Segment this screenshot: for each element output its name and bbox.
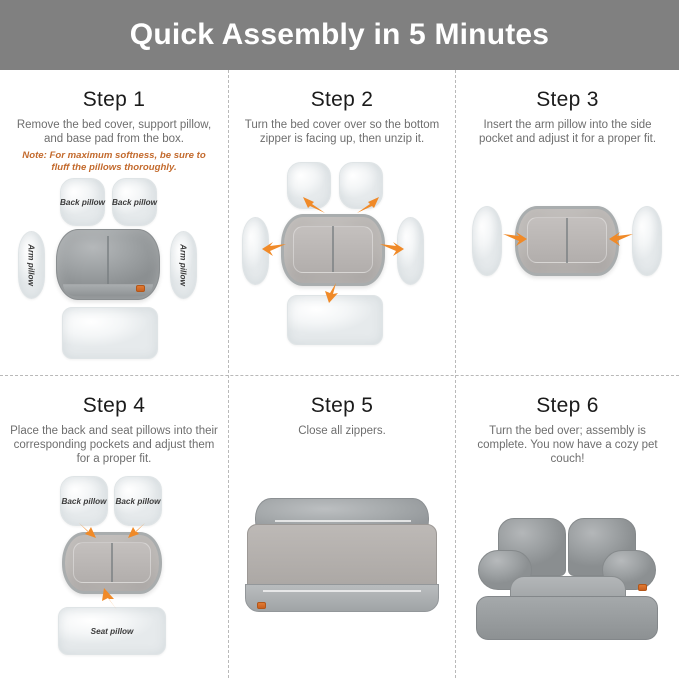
step-1-description: Remove the bed cover, support pillow, an… xyxy=(0,112,228,146)
brand-tag-icon xyxy=(638,584,647,591)
zipper-line-bottom xyxy=(263,590,421,592)
step-6-description: Turn the bed over; assembly is complete.… xyxy=(456,418,679,466)
step-6-title: Step 6 xyxy=(456,394,679,418)
zipper-line-top xyxy=(275,520,411,522)
arrow-down-right-icon xyxy=(126,522,148,542)
arm-pillow-left: Arm pillow xyxy=(18,231,45,299)
bed-cover-unzipped xyxy=(515,206,619,276)
step-2-illustration xyxy=(229,152,455,367)
brand-tag-icon xyxy=(257,602,266,609)
cover-center-seam xyxy=(107,236,109,286)
steps-grid: Step 1 Remove the bed cover, support pil… xyxy=(0,70,679,678)
arrow-right-insert-icon xyxy=(502,230,528,248)
step-panel-3: Step 3 Insert the arm pillow into the si… xyxy=(456,70,679,375)
step-3-illustration xyxy=(456,188,679,375)
step-3-title: Step 3 xyxy=(456,88,679,112)
back-pillow-left-label: Back pillow xyxy=(61,179,104,225)
assembly-instructions-page: Quick Assembly in 5 Minutes Step 1 Remov… xyxy=(0,0,679,678)
seat-pillow: Seat pillow xyxy=(58,607,166,655)
step-5-title: Step 5 xyxy=(229,394,455,418)
step-1-illustration: Back pillow Back pillow Arm pillow Arm p… xyxy=(0,173,228,363)
step-panel-4: Step 4 Place the back and seat pillows i… xyxy=(0,376,228,678)
cover-center-seam xyxy=(332,226,334,272)
step-5-description: Close all zippers. xyxy=(229,418,455,438)
step-1-title: Step 1 xyxy=(0,88,228,112)
back-pillow-right-label: Back pillow xyxy=(113,179,156,225)
base-pad xyxy=(62,307,158,359)
back-pillow-left: Back pillow xyxy=(60,178,105,226)
step-4-title: Step 4 xyxy=(0,394,228,418)
arm-pillow-right xyxy=(632,206,662,276)
back-pillow-right-label: Back pillow xyxy=(115,477,161,525)
step-1-note: Note: For maximum softness, be sure to f… xyxy=(0,146,228,173)
back-pillow-right: Back pillow xyxy=(114,476,162,526)
step-panel-2: Step 2 Turn the bed cover over so the bo… xyxy=(229,70,455,375)
page-title: Quick Assembly in 5 Minutes xyxy=(130,18,549,52)
back-pillow-left-label: Back pillow xyxy=(61,477,107,525)
step-panel-1: Step 1 Remove the bed cover, support pil… xyxy=(0,70,228,375)
step-4-illustration: Back pillow Back pillow Seat pillow xyxy=(0,476,228,666)
arm-pillow-left-label: Arm pillow xyxy=(0,253,65,278)
bed-cover xyxy=(56,229,160,300)
assembled-bed-upside-down xyxy=(241,498,443,618)
bed-cover-unzipped xyxy=(281,214,385,286)
arrow-up-right-icon xyxy=(355,196,381,214)
step-4-description: Place the back and seat pillows into the… xyxy=(0,418,228,466)
arrow-down-icon xyxy=(322,282,342,304)
arrow-up-seat-icon xyxy=(100,586,122,612)
arrow-left-insert-icon xyxy=(608,230,634,248)
step-3-description: Insert the arm pillow into the side pock… xyxy=(456,112,679,146)
cover-center-seam xyxy=(566,218,568,263)
step-6-illustration xyxy=(456,506,679,678)
arrow-up-left-icon xyxy=(301,196,327,214)
step-5-illustration xyxy=(229,490,455,678)
cover-center-seam xyxy=(111,543,113,582)
step-2-description: Turn the bed cover over so the bottom zi… xyxy=(229,112,455,146)
back-pillow-right: Back pillow xyxy=(112,178,157,226)
arm-pillow-right-label: Arm pillow xyxy=(151,253,217,278)
arm-pillow-left xyxy=(472,206,502,276)
arm-pillow-right: Arm pillow xyxy=(170,231,197,299)
seat-pillow-label: Seat pillow xyxy=(59,608,165,654)
arrow-down-left-icon xyxy=(76,522,98,542)
bed-bottom-edge xyxy=(245,584,439,612)
couch-base xyxy=(476,596,658,640)
back-pillow-left: Back pillow xyxy=(60,476,108,526)
arrow-left-icon xyxy=(261,240,287,258)
page-header: Quick Assembly in 5 Minutes xyxy=(0,0,679,70)
step-panel-6: Step 6 Turn the bed over; assembly is co… xyxy=(456,376,679,678)
step-2-title: Step 2 xyxy=(229,88,455,112)
finished-pet-couch xyxy=(468,510,666,650)
arrow-right-icon xyxy=(379,240,405,258)
step-panel-5: Step 5 Close all zippers. xyxy=(229,376,455,678)
brand-tag-icon xyxy=(136,285,145,292)
